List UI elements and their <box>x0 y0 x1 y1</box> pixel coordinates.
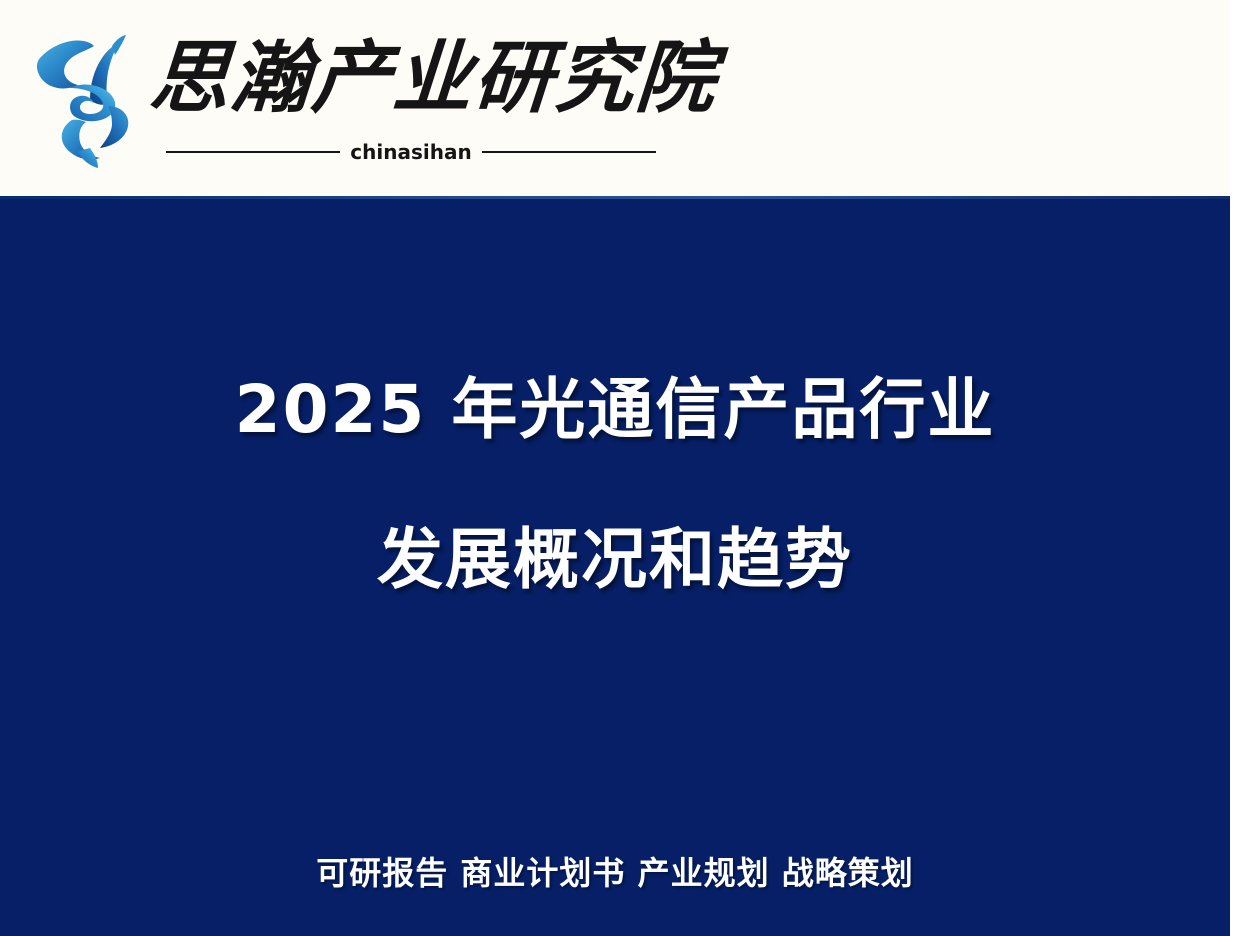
logo-rule-right <box>482 151 656 153</box>
company-logo-lockup: 思瀚产业研究院 chinasihan <box>28 26 638 172</box>
slide-title-line-1: 2025 年光通信产品行业 <box>0 362 1230 458</box>
logo-wordmark: 思瀚产业研究院 chinasihan <box>150 26 650 146</box>
slide-footer-tagline: 可研报告 商业计划书 产业规划 战略策划 <box>0 851 1230 895</box>
logo-company-name-latin: chinasihan <box>350 140 471 164</box>
slide-body-panel: 2025 年光通信产品行业 发展概况和趋势 可研报告 商业计划书 产业规划 战略… <box>0 196 1230 936</box>
slide-title: 2025 年光通信产品行业 发展概况和趋势 <box>0 362 1230 608</box>
logo-company-name-cn: 思瀚产业研究院 <box>147 28 654 128</box>
logo-rule-row: chinasihan <box>166 138 656 166</box>
panel-top-highlight <box>0 196 1230 199</box>
logo-rule-left <box>166 151 340 153</box>
sihan-ribbon-logo-icon <box>28 30 146 170</box>
presentation-slide: 思瀚产业研究院 chinasihan 2025 年光通信产品行业 发展概况和趋势… <box>0 0 1234 936</box>
header-band: 思瀚产业研究院 chinasihan <box>0 0 1234 196</box>
slide-title-line-2: 发展概况和趋势 <box>0 512 1230 608</box>
page-right-margin <box>1230 0 1234 936</box>
